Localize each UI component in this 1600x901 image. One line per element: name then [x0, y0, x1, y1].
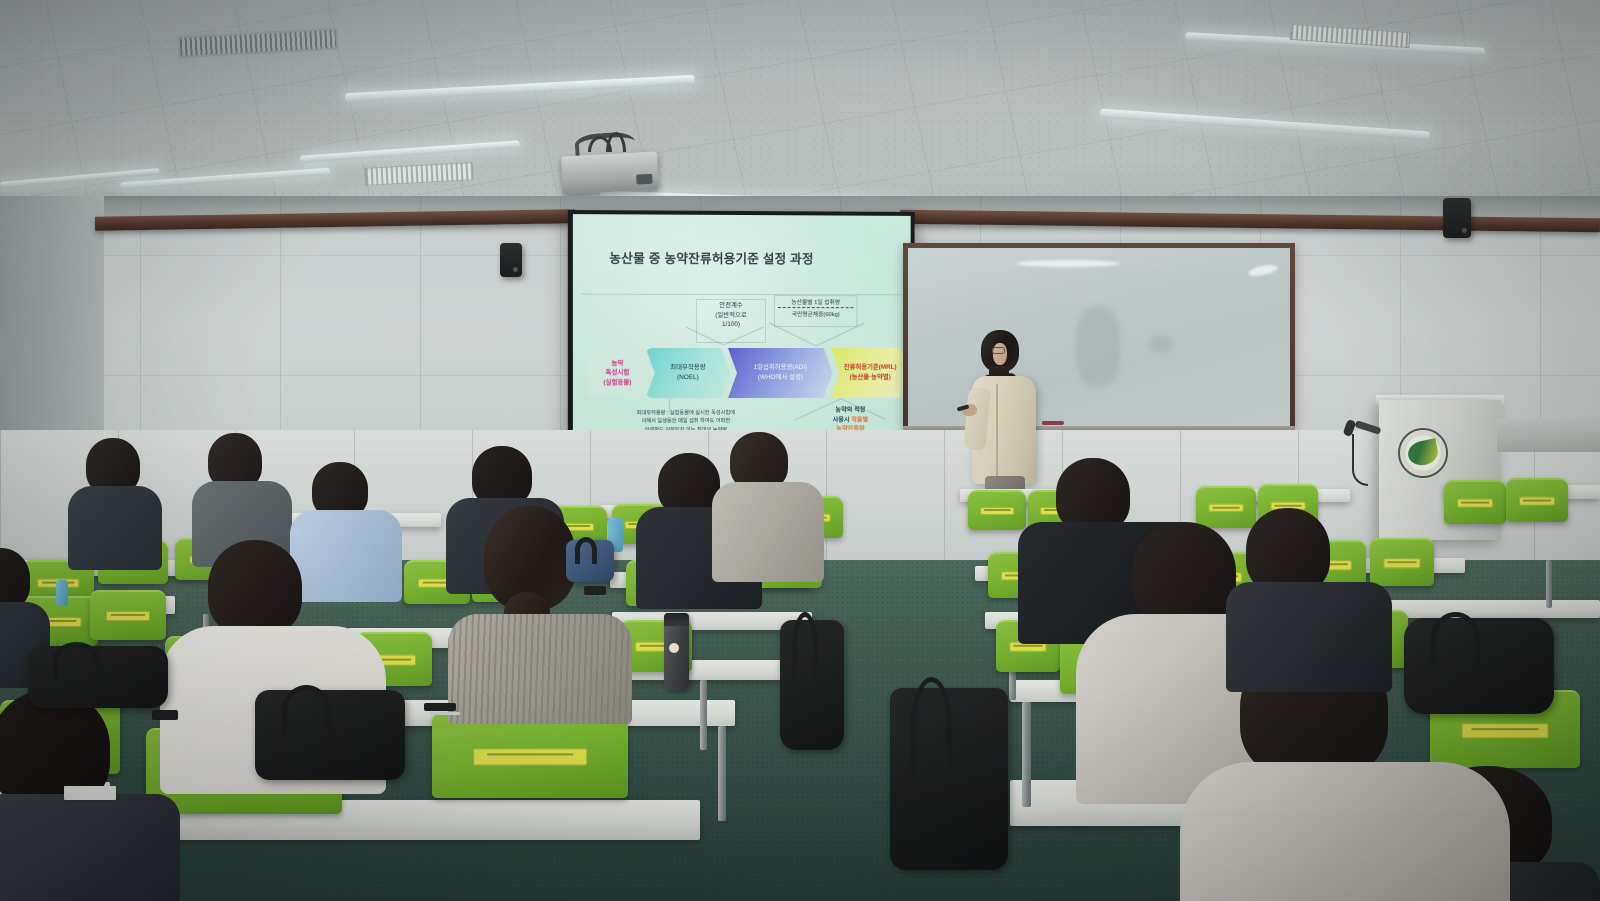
whiteboard-smudge	[1150, 336, 1172, 352]
presenter	[963, 330, 1055, 515]
whiteboard	[903, 243, 1295, 431]
jacket-on-desk	[255, 690, 405, 780]
slide-flow-diagram: 농약 독성시험 (실험동물) 최대무작용량 (NOEL) 1일섭취허용량(ADI…	[587, 348, 905, 398]
backpack-right	[1404, 618, 1554, 714]
smartphone	[152, 710, 178, 720]
chair	[968, 490, 1026, 530]
tumbler-lid	[664, 613, 689, 626]
flow-step-noel: 최대무작용량 (NOEL)	[646, 348, 730, 398]
student-head	[472, 446, 532, 506]
student-torso	[448, 614, 632, 724]
student-head	[1132, 522, 1236, 626]
desk-leg	[1546, 560, 1552, 608]
chair	[1444, 480, 1506, 524]
desk-leg	[1022, 702, 1031, 807]
student-torso	[290, 510, 402, 602]
student-head	[1056, 458, 1130, 532]
wall-speaker-left	[500, 243, 522, 277]
tumbler	[664, 613, 689, 691]
podium-cable	[1352, 434, 1368, 486]
emblem-inner-shape	[1406, 438, 1440, 468]
bag-on-desk-center	[566, 540, 614, 582]
smartphone	[584, 586, 606, 595]
chair	[1196, 486, 1256, 528]
projector-lens	[636, 174, 653, 185]
tumbler-sticker	[669, 643, 679, 653]
side-table-right	[1497, 418, 1600, 452]
paper-sheet	[64, 786, 116, 800]
chair	[432, 712, 628, 798]
student-torso	[0, 794, 180, 901]
student-head	[658, 453, 720, 515]
backpack-floor	[890, 688, 1008, 870]
glasses-icon	[992, 347, 1005, 354]
chair	[1506, 478, 1568, 522]
student-torso	[712, 482, 824, 582]
chair	[1370, 538, 1434, 586]
student-torso	[1226, 582, 1392, 692]
whiteboard-glare	[1016, 260, 1120, 267]
student-torso	[1180, 762, 1510, 901]
university-emblem-icon	[1398, 428, 1448, 478]
student-head	[208, 540, 302, 636]
desk-leg	[718, 726, 726, 821]
lecture-hall-photo: 농산물 중 농약잔류허용기준 설정 과정 안전계수 (일반적으로 1/100) …	[0, 0, 1600, 901]
bag-on-desk-left	[28, 646, 168, 708]
backpack-center	[780, 620, 844, 750]
student-torso	[68, 486, 162, 570]
flow-step-adi: 1일섭취허용량(ADI) (WHO에서 설정)	[728, 348, 833, 398]
whiteboard-glare	[1247, 263, 1278, 278]
water-bottle	[56, 580, 68, 606]
whiteboard-smudge	[1076, 306, 1120, 386]
smartphone	[424, 703, 456, 711]
chair	[90, 590, 166, 640]
desk-leg	[700, 680, 707, 750]
flow-entry-label: 농약 독성시험 (실험동물)	[589, 348, 646, 398]
wall-speaker-right	[1443, 198, 1471, 238]
flow-step-mrl: 잔류허용기준(MRL) (농산물·농약별)	[831, 348, 910, 398]
ceiling-projector	[561, 152, 659, 195]
pen	[430, 712, 460, 715]
